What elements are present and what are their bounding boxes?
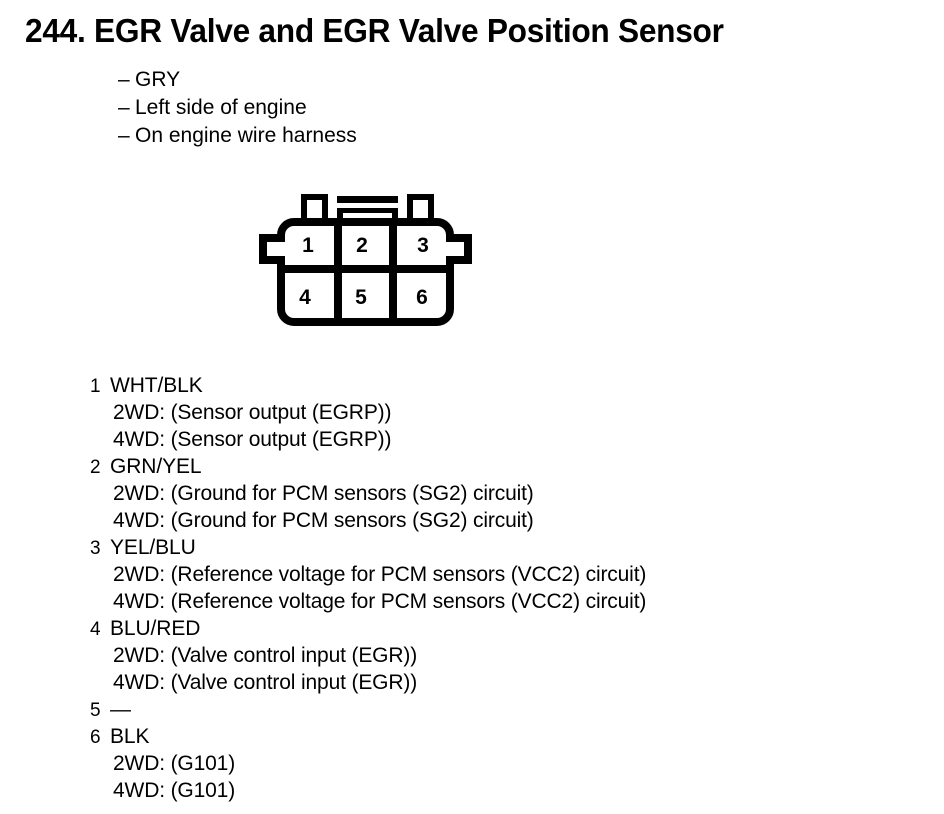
bullet-text: Left side of engine	[135, 94, 307, 122]
column-divider-1	[334, 224, 342, 320]
pin-wire-color: —	[110, 696, 131, 723]
pin-detail-2wd: 2WD: (G101)	[90, 750, 850, 777]
pin-detail-4wd: 4WD: (Reference voltage for PCM sensors …	[90, 588, 850, 615]
row-divider	[283, 265, 448, 273]
page-root: 244. EGR Valve and EGR Valve Position Se…	[0, 0, 944, 814]
bullet-dash-icon: –	[118, 122, 135, 150]
bullet-text: On engine wire harness	[135, 122, 357, 150]
connector-cell-6: 6	[416, 286, 428, 309]
pin-header: 5 —	[90, 696, 850, 723]
pin-wire-color: GRN/YEL	[110, 453, 202, 480]
left-ear-seam	[277, 242, 285, 256]
pin-wire-color: YEL/BLU	[110, 534, 196, 561]
pin-detail-4wd: 4WD: (G101)	[90, 777, 850, 804]
pin-number: 3	[90, 535, 110, 562]
pin-entry: 2 GRN/YEL 2WD: (Ground for PCM sensors (…	[90, 453, 850, 534]
description-bullet-list: – GRY – Left side of engine – On engine …	[118, 66, 718, 150]
connector-cell-1: 1	[302, 234, 314, 257]
pin-wire-color: WHT/BLK	[110, 372, 203, 399]
connector-cell-3: 3	[417, 234, 429, 257]
pin-number: 1	[90, 373, 110, 400]
pin-entry: 5 —	[90, 696, 850, 723]
pin-detail-2wd: 2WD: (Reference voltage for PCM sensors …	[90, 561, 850, 588]
pin-header: 6 BLK	[90, 723, 850, 750]
pin-assignment-list: 1 WHT/BLK 2WD: (Sensor output (EGRP)) 4W…	[90, 372, 850, 804]
pin-detail-4wd: 4WD: (Ground for PCM sensors (SG2) circu…	[90, 507, 850, 534]
pin-entry: 3 YEL/BLU 2WD: (Reference voltage for PC…	[90, 534, 850, 615]
connector-cell-2: 2	[356, 234, 368, 257]
pin-detail-4wd: 4WD: (Valve control input (EGR))	[90, 669, 850, 696]
list-item: – GRY	[118, 66, 718, 94]
bullet-dash-icon: –	[118, 66, 135, 94]
pin-header: 4 BLU/RED	[90, 615, 850, 642]
pin-wire-color: BLU/RED	[110, 615, 200, 642]
center-tab-line-icon	[337, 208, 398, 213]
pin-number: 2	[90, 454, 110, 481]
column-divider-2	[389, 224, 397, 320]
pin-header: 1 WHT/BLK	[90, 372, 850, 399]
pin-number: 4	[90, 616, 110, 643]
pin-detail-2wd: 2WD: (Ground for PCM sensors (SG2) circu…	[90, 480, 850, 507]
pin-entry: 6 BLK 2WD: (G101) 4WD: (G101)	[90, 723, 850, 804]
right-ear-seam	[446, 242, 454, 256]
left-latch-tab-icon	[304, 197, 325, 221]
right-latch-tab-icon	[410, 197, 431, 221]
pin-header: 3 YEL/BLU	[90, 534, 850, 561]
pin-entry: 1 WHT/BLK 2WD: (Sensor output (EGRP)) 4W…	[90, 372, 850, 453]
center-tab-bar-icon	[337, 196, 398, 203]
pin-wire-color: BLK	[110, 723, 149, 750]
pin-detail-2wd: 2WD: (Valve control input (EGR))	[90, 642, 850, 669]
bullet-dash-icon: –	[118, 94, 135, 122]
pin-entry: 4 BLU/RED 2WD: (Valve control input (EGR…	[90, 615, 850, 696]
pin-detail-4wd: 4WD: (Sensor output (EGRP))	[90, 426, 850, 453]
page-title: 244. EGR Valve and EGR Valve Position Se…	[25, 12, 724, 50]
list-item: – Left side of engine	[118, 94, 718, 122]
connector-svg: 1 2 3 4 5 6	[255, 193, 480, 329]
list-item: – On engine wire harness	[118, 122, 718, 150]
pin-number: 6	[90, 724, 110, 751]
connector-diagram: 1 2 3 4 5 6	[255, 193, 480, 329]
pin-detail-2wd: 2WD: (Sensor output (EGRP))	[90, 399, 850, 426]
pin-header: 2 GRN/YEL	[90, 453, 850, 480]
pin-number: 5	[90, 697, 110, 724]
connector-cell-5: 5	[355, 286, 367, 309]
bullet-text: GRY	[135, 66, 180, 94]
connector-cell-4: 4	[299, 286, 311, 309]
